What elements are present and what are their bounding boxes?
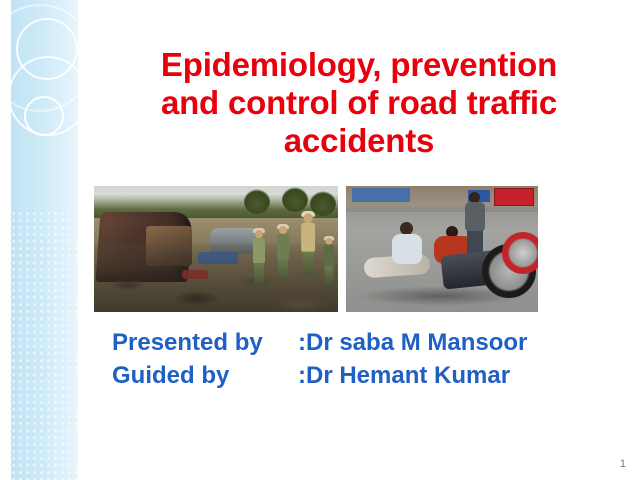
bystander-sitting bbox=[390, 222, 424, 270]
band-white-edge bbox=[0, 0, 11, 480]
rescue-worker bbox=[323, 238, 335, 284]
circle-ring-icon bbox=[16, 18, 78, 80]
rescue-worker bbox=[276, 226, 290, 280]
title-line-1: Epidemiology, prevention bbox=[86, 46, 632, 84]
bystander-standing bbox=[464, 192, 486, 254]
slide-number: 1 bbox=[620, 458, 626, 470]
credit-row-guided-by: Guided by :Dr Hemant Kumar bbox=[112, 359, 624, 392]
rescue-worker bbox=[252, 230, 266, 284]
bicycle-wheel bbox=[502, 232, 538, 274]
presentation-slide: Epidemiology, prevention and control of … bbox=[0, 0, 640, 480]
motorcycle-accident-photo bbox=[346, 186, 538, 312]
circle-ring-icon bbox=[24, 96, 64, 136]
presented-by-value: :Dr saba M Mansoor bbox=[298, 326, 624, 359]
slide-title: Epidemiology, prevention and control of … bbox=[86, 46, 632, 160]
palm-tree-icon bbox=[244, 188, 270, 214]
credits-block: Presented by :Dr saba M Mansoor Guided b… bbox=[112, 326, 624, 392]
road-accident-wreckage-photo bbox=[94, 186, 338, 312]
title-line-3: accidents bbox=[86, 122, 632, 160]
credit-row-presented-by: Presented by :Dr saba M Mansoor bbox=[112, 326, 624, 359]
decorative-side-band bbox=[0, 0, 78, 480]
red-sign bbox=[494, 188, 534, 206]
shop-signboard bbox=[352, 188, 410, 202]
presented-by-label: Presented by bbox=[112, 326, 298, 359]
band-dot-pattern bbox=[10, 210, 78, 480]
slide-image-row bbox=[94, 186, 538, 312]
rescue-worker bbox=[300, 213, 316, 276]
title-line-2: and control of road traffic bbox=[86, 84, 632, 122]
guided-by-label: Guided by bbox=[112, 359, 298, 392]
palm-tree-icon bbox=[282, 186, 308, 212]
guided-by-value: :Dr Hemant Kumar bbox=[298, 359, 624, 392]
